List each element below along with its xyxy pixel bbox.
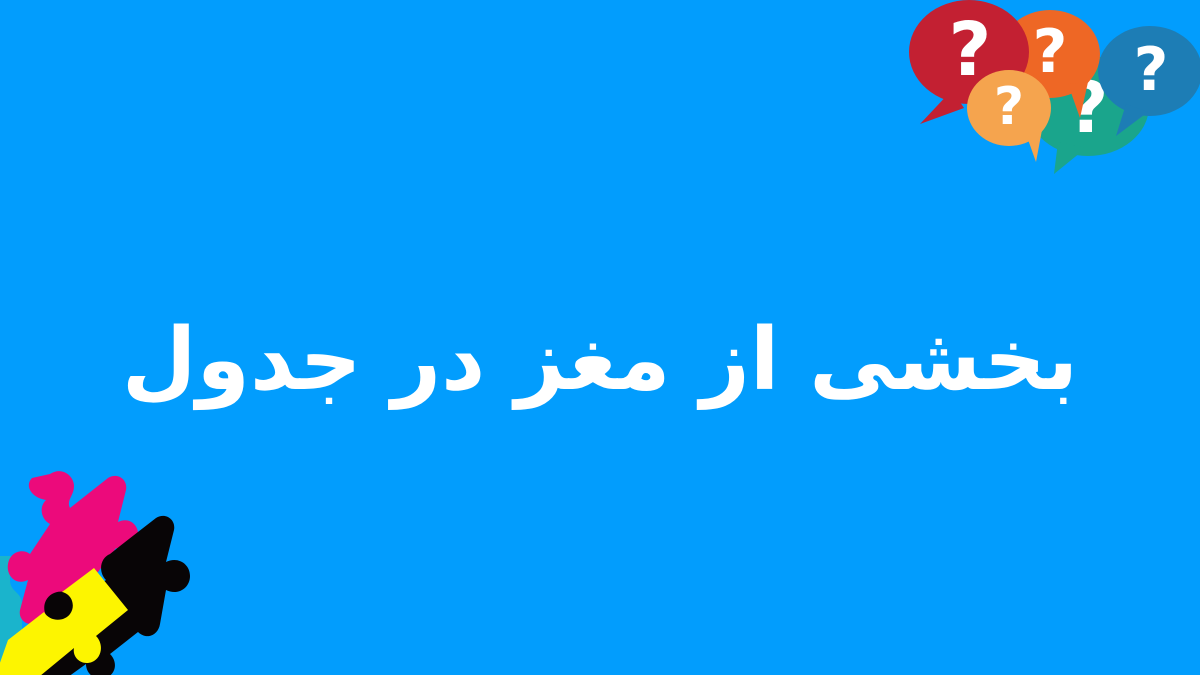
orange-bubble-question-icon: ?: [1033, 17, 1068, 87]
light-orange-bubble-question-icon: ?: [994, 77, 1024, 137]
slide-canvas: ? ? ? ?: [0, 0, 1200, 675]
puzzle-piece-cluster: [0, 468, 228, 675]
steel-blue-bubble-question-icon: ?: [1134, 35, 1169, 105]
page-title: بخشی از مغز در جدول: [0, 296, 1200, 426]
light-orange-bubble: ?: [967, 70, 1051, 162]
speech-bubble-cluster: ? ? ? ?: [908, 0, 1200, 176]
